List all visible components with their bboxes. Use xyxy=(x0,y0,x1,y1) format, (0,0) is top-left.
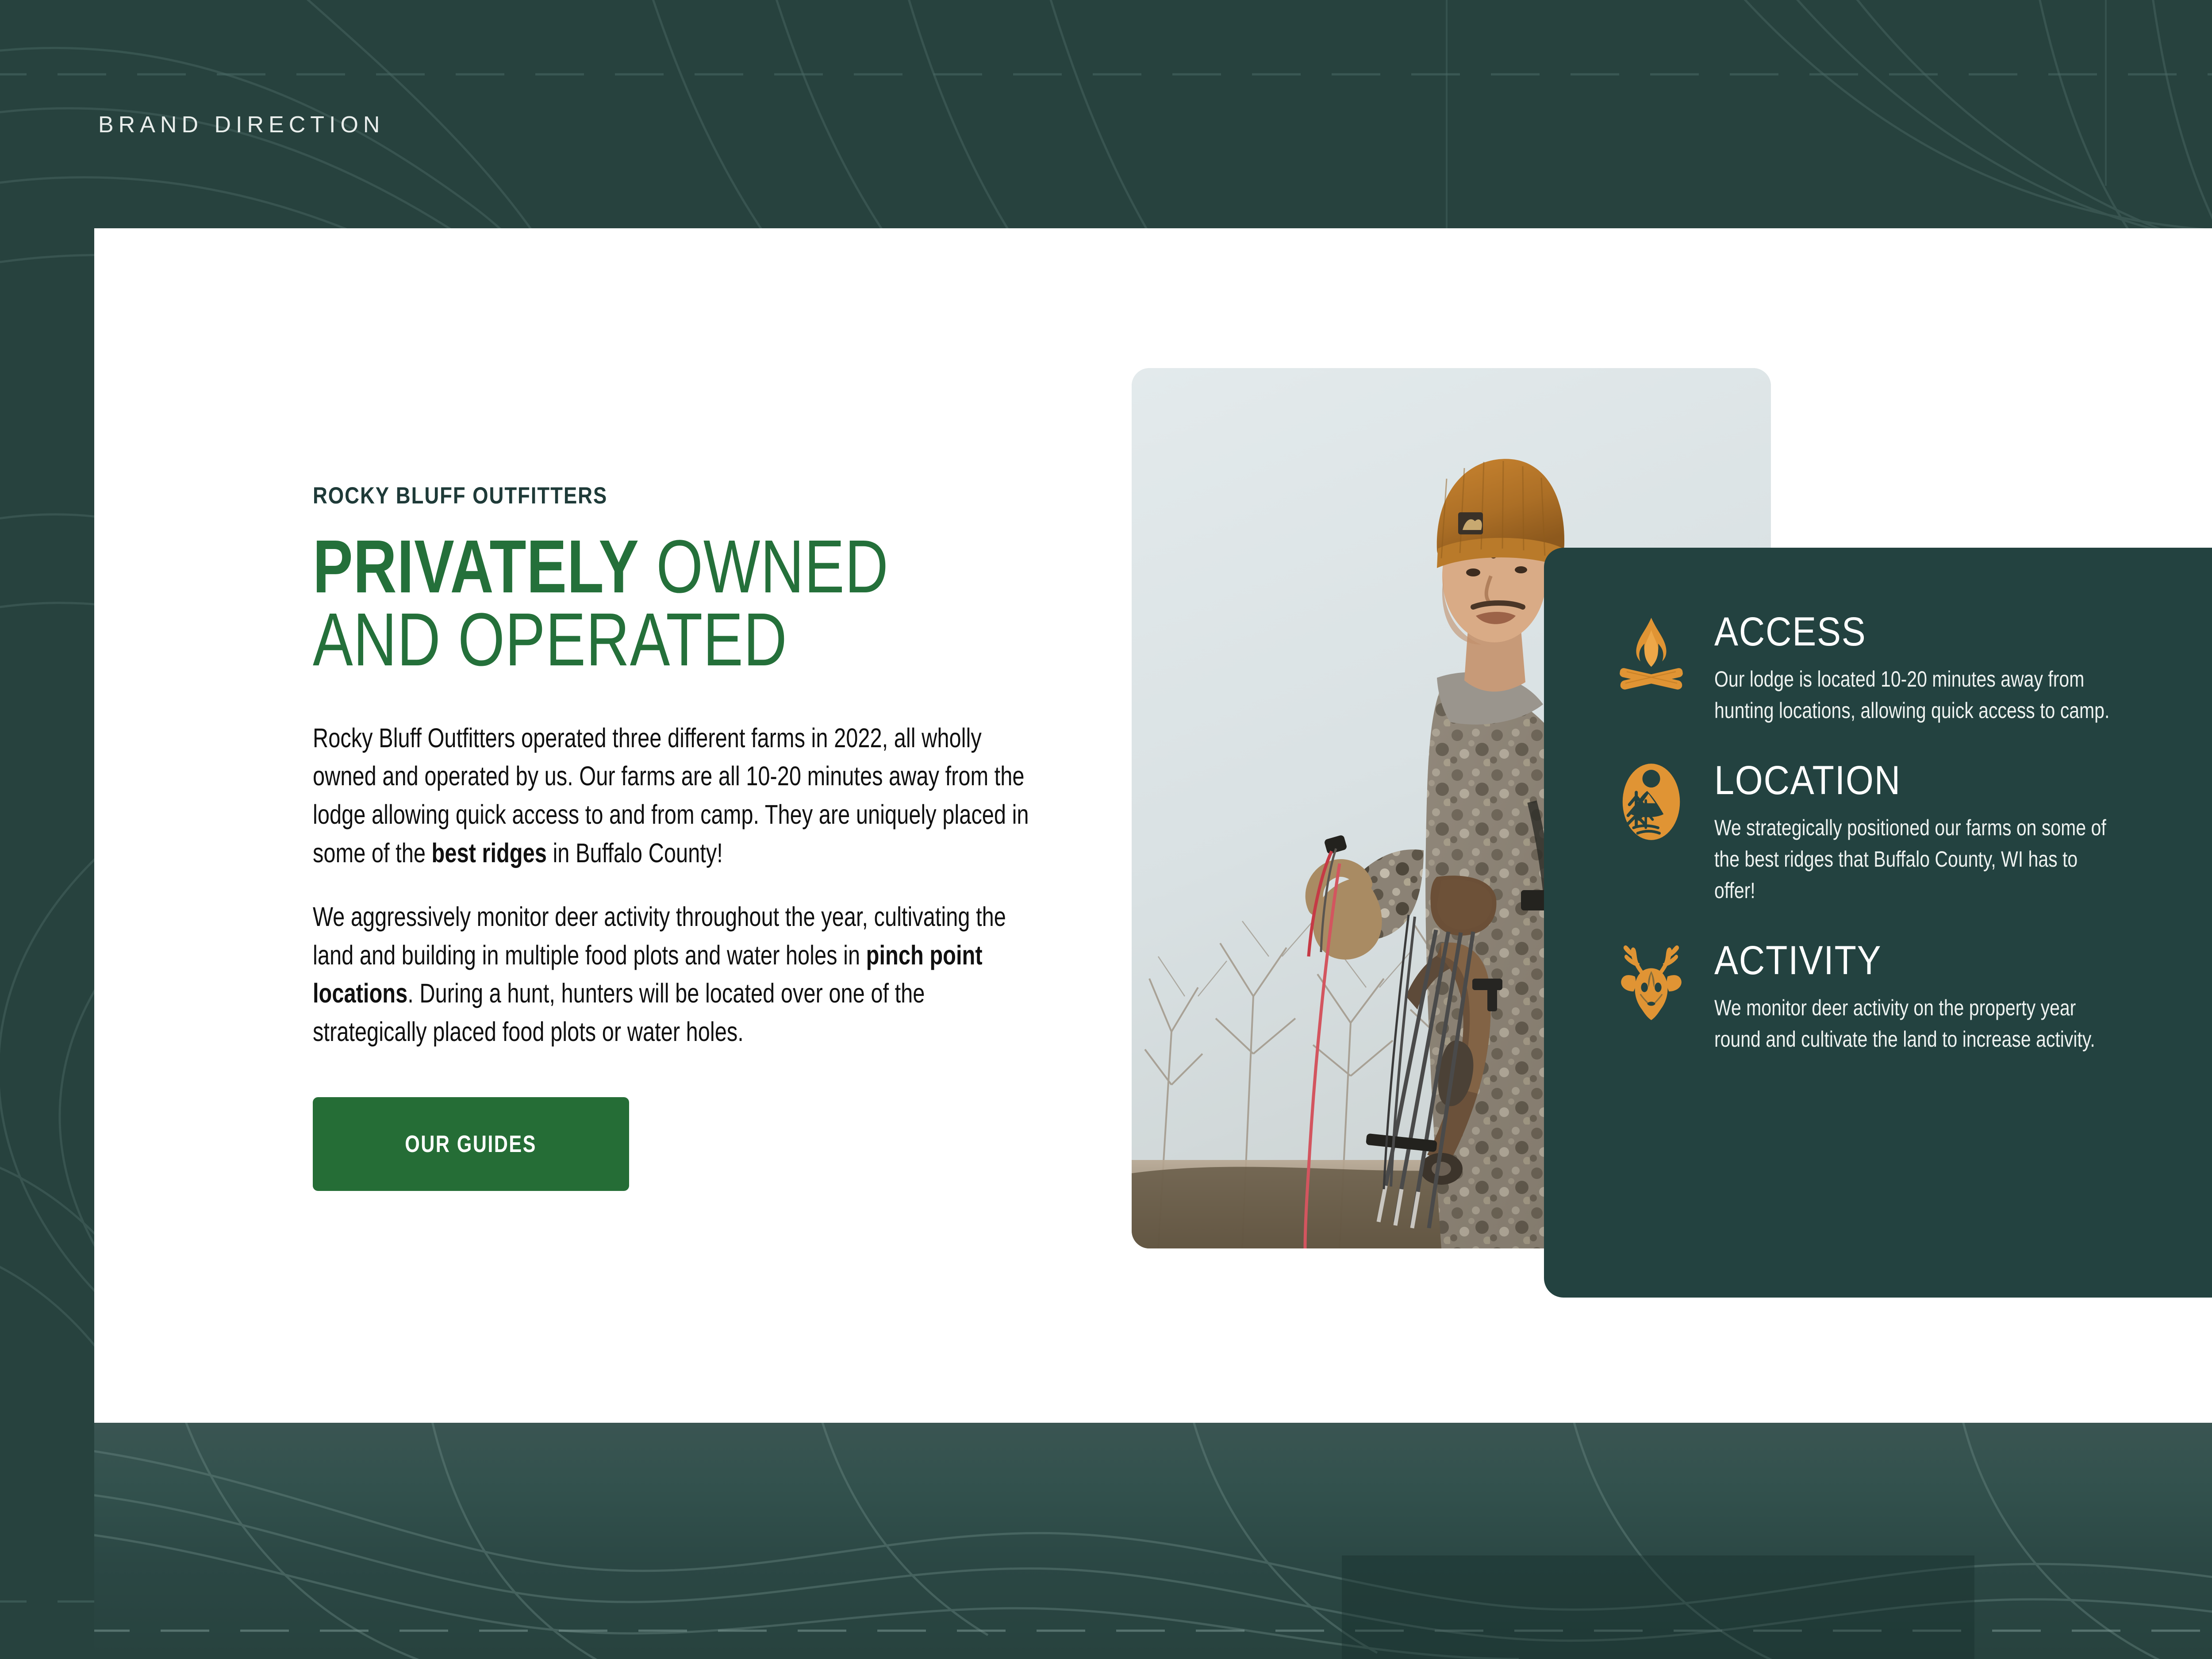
deer-head-icon xyxy=(1610,941,1692,1023)
paragraph-1-text-b: in Buffalo County! xyxy=(547,838,723,868)
page-title: PRIVATELY OWNED AND OPERATED xyxy=(313,530,893,676)
our-guides-button-label: OUR GUIDES xyxy=(405,1130,537,1158)
campfire-icon-svg xyxy=(1610,612,1692,694)
body-paragraph-1: Rocky Bluff Outfitters operated three di… xyxy=(313,719,1035,872)
header-label-brand-direction: BRAND DIRECTION xyxy=(98,111,384,138)
headline-bold-word: PRIVATELY xyxy=(313,525,639,609)
our-guides-button[interactable]: OUR GUIDES xyxy=(313,1097,629,1191)
landscape-badge-icon-svg xyxy=(1610,761,1692,843)
deer-head-icon-svg xyxy=(1610,941,1692,1023)
feature-item-location: LOCATION We strategically positioned our… xyxy=(1610,758,2199,906)
landscape-badge-icon xyxy=(1610,761,1692,843)
feature-item-activity: ACTIVITY We monitor deer activity on the… xyxy=(1610,938,2199,1055)
paragraph-1-emphasis: best ridges xyxy=(432,838,547,868)
campfire-icon xyxy=(1610,612,1692,694)
feature-description-access: Our lodge is located 10-20 minutes away … xyxy=(1714,664,2120,726)
feature-title-activity: ACTIVITY xyxy=(1714,940,2151,981)
feature-text-activity: ACTIVITY We monitor deer activity on the… xyxy=(1714,938,2210,1055)
features-card: ACCESS Our lodge is located 10-20 minute… xyxy=(1544,548,2212,1298)
panel-reflection xyxy=(94,1423,2212,1659)
headline-second-line: AND OPERATED xyxy=(313,598,787,682)
feature-description-location: We strategically positioned our farms on… xyxy=(1714,812,2120,906)
feature-item-access: ACCESS Our lodge is located 10-20 minute… xyxy=(1610,610,2199,726)
page-header: BRAND DIRECTION WEBSITE DESIGN xyxy=(0,0,2212,248)
feature-description-activity: We monitor deer activity on the property… xyxy=(1714,992,2120,1055)
feature-text-access: ACCESS Our lodge is located 10-20 minute… xyxy=(1714,610,2210,726)
feature-text-location: LOCATION We strategically positioned our… xyxy=(1714,758,2210,906)
feature-title-location: LOCATION xyxy=(1714,760,2151,801)
headline-light-word: OWNED xyxy=(656,525,888,609)
feature-title-access: ACCESS xyxy=(1714,611,2151,652)
body-paragraph-2: We aggressively monitor deer activity th… xyxy=(313,898,1035,1051)
left-content-column: ROCKY BLUFF OUTFITTERS PRIVATELY OWNED A… xyxy=(313,482,1038,1191)
reflection-card-shadow xyxy=(1342,1555,1974,1659)
brand-eyebrow: ROCKY BLUFF OUTFITTERS xyxy=(313,482,937,509)
